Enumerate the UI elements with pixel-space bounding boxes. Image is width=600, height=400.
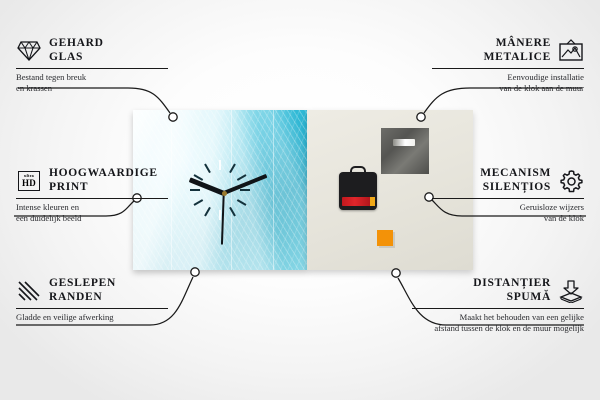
feature-title: MECANISMSILENȚIOS	[480, 167, 551, 194]
feature-hoogwaardige-print[interactable]: ultra HD HOOGWAARDIGEPRINT Intense kleur…	[16, 166, 168, 224]
feature-description: Eenvoudige installatie van de klok aan d…	[432, 69, 584, 94]
picture-frame-icon	[558, 38, 584, 64]
battery	[342, 197, 374, 206]
feature-title: DISTANȚIERSPUMĂ	[473, 277, 551, 304]
hanger-slot	[393, 139, 415, 146]
feature-header: GESLEPENRANDEN	[16, 276, 168, 306]
feature-title: GESLEPENRANDEN	[49, 277, 116, 304]
feature-description: Intense kleuren en een duidelijk beeld	[16, 199, 168, 224]
battery-terminal	[370, 197, 375, 206]
feature-description: Maakt het behouden van een gelijke afsta…	[412, 309, 584, 334]
metal-hanger-icon	[381, 128, 429, 174]
feature-title: HOOGWAARDIGEPRINT	[49, 167, 158, 194]
feature-description: Gladde en veilige afwerking	[16, 309, 168, 323]
feature-mecanism-silentios[interactable]: MECANISMSILENȚIOS Geruisloze wijzers van…	[432, 166, 584, 224]
foam-spacer	[377, 230, 393, 246]
movement-hanging-loop	[350, 166, 366, 175]
feature-header: DISTANȚIERSPUMĂ	[412, 276, 584, 306]
beveled-edges-icon	[16, 278, 42, 304]
feature-title: MÂNEREMETALICE	[484, 37, 551, 64]
feature-description: Geruisloze wijzers van de klok	[432, 199, 584, 224]
feature-title: GEHARDGLAS	[49, 37, 104, 64]
clock-center-cap	[222, 191, 227, 196]
feature-header: GEHARDGLAS	[16, 36, 168, 66]
infographic-canvas: GEHARDGLAS Bestand tegen breuk en krasse…	[0, 0, 600, 400]
spacer-arrow-icon	[558, 278, 584, 304]
connector-dot-distantier-spuma	[392, 269, 400, 277]
clock-movement-box	[339, 172, 377, 210]
feature-description: Bestand tegen breuk en krassen	[16, 69, 168, 94]
feature-distantier-spuma[interactable]: DISTANȚIERSPUMĂ Maakt het behouden van e…	[412, 276, 584, 334]
feature-header: ultra HD HOOGWAARDIGEPRINT	[16, 166, 168, 196]
feature-geslepen-randen[interactable]: GESLEPENRANDEN Gladde en veilige afwerki…	[16, 276, 168, 323]
diamond-icon	[16, 38, 42, 64]
ultra-hd-icon: ultra HD	[16, 168, 42, 194]
product-image	[133, 110, 473, 270]
gear-icon	[558, 168, 584, 194]
feature-header: MÂNEREMETALICE	[432, 36, 584, 66]
feature-header: MECANISMSILENȚIOS	[432, 166, 584, 196]
feature-manere-metalice[interactable]: MÂNEREMETALICE Eenvoudige installatie va…	[432, 36, 584, 94]
feature-gehard-glas[interactable]: GEHARDGLAS Bestand tegen breuk en krasse…	[16, 36, 168, 94]
ultra-hd-icon-main-label: HD	[22, 179, 36, 188]
